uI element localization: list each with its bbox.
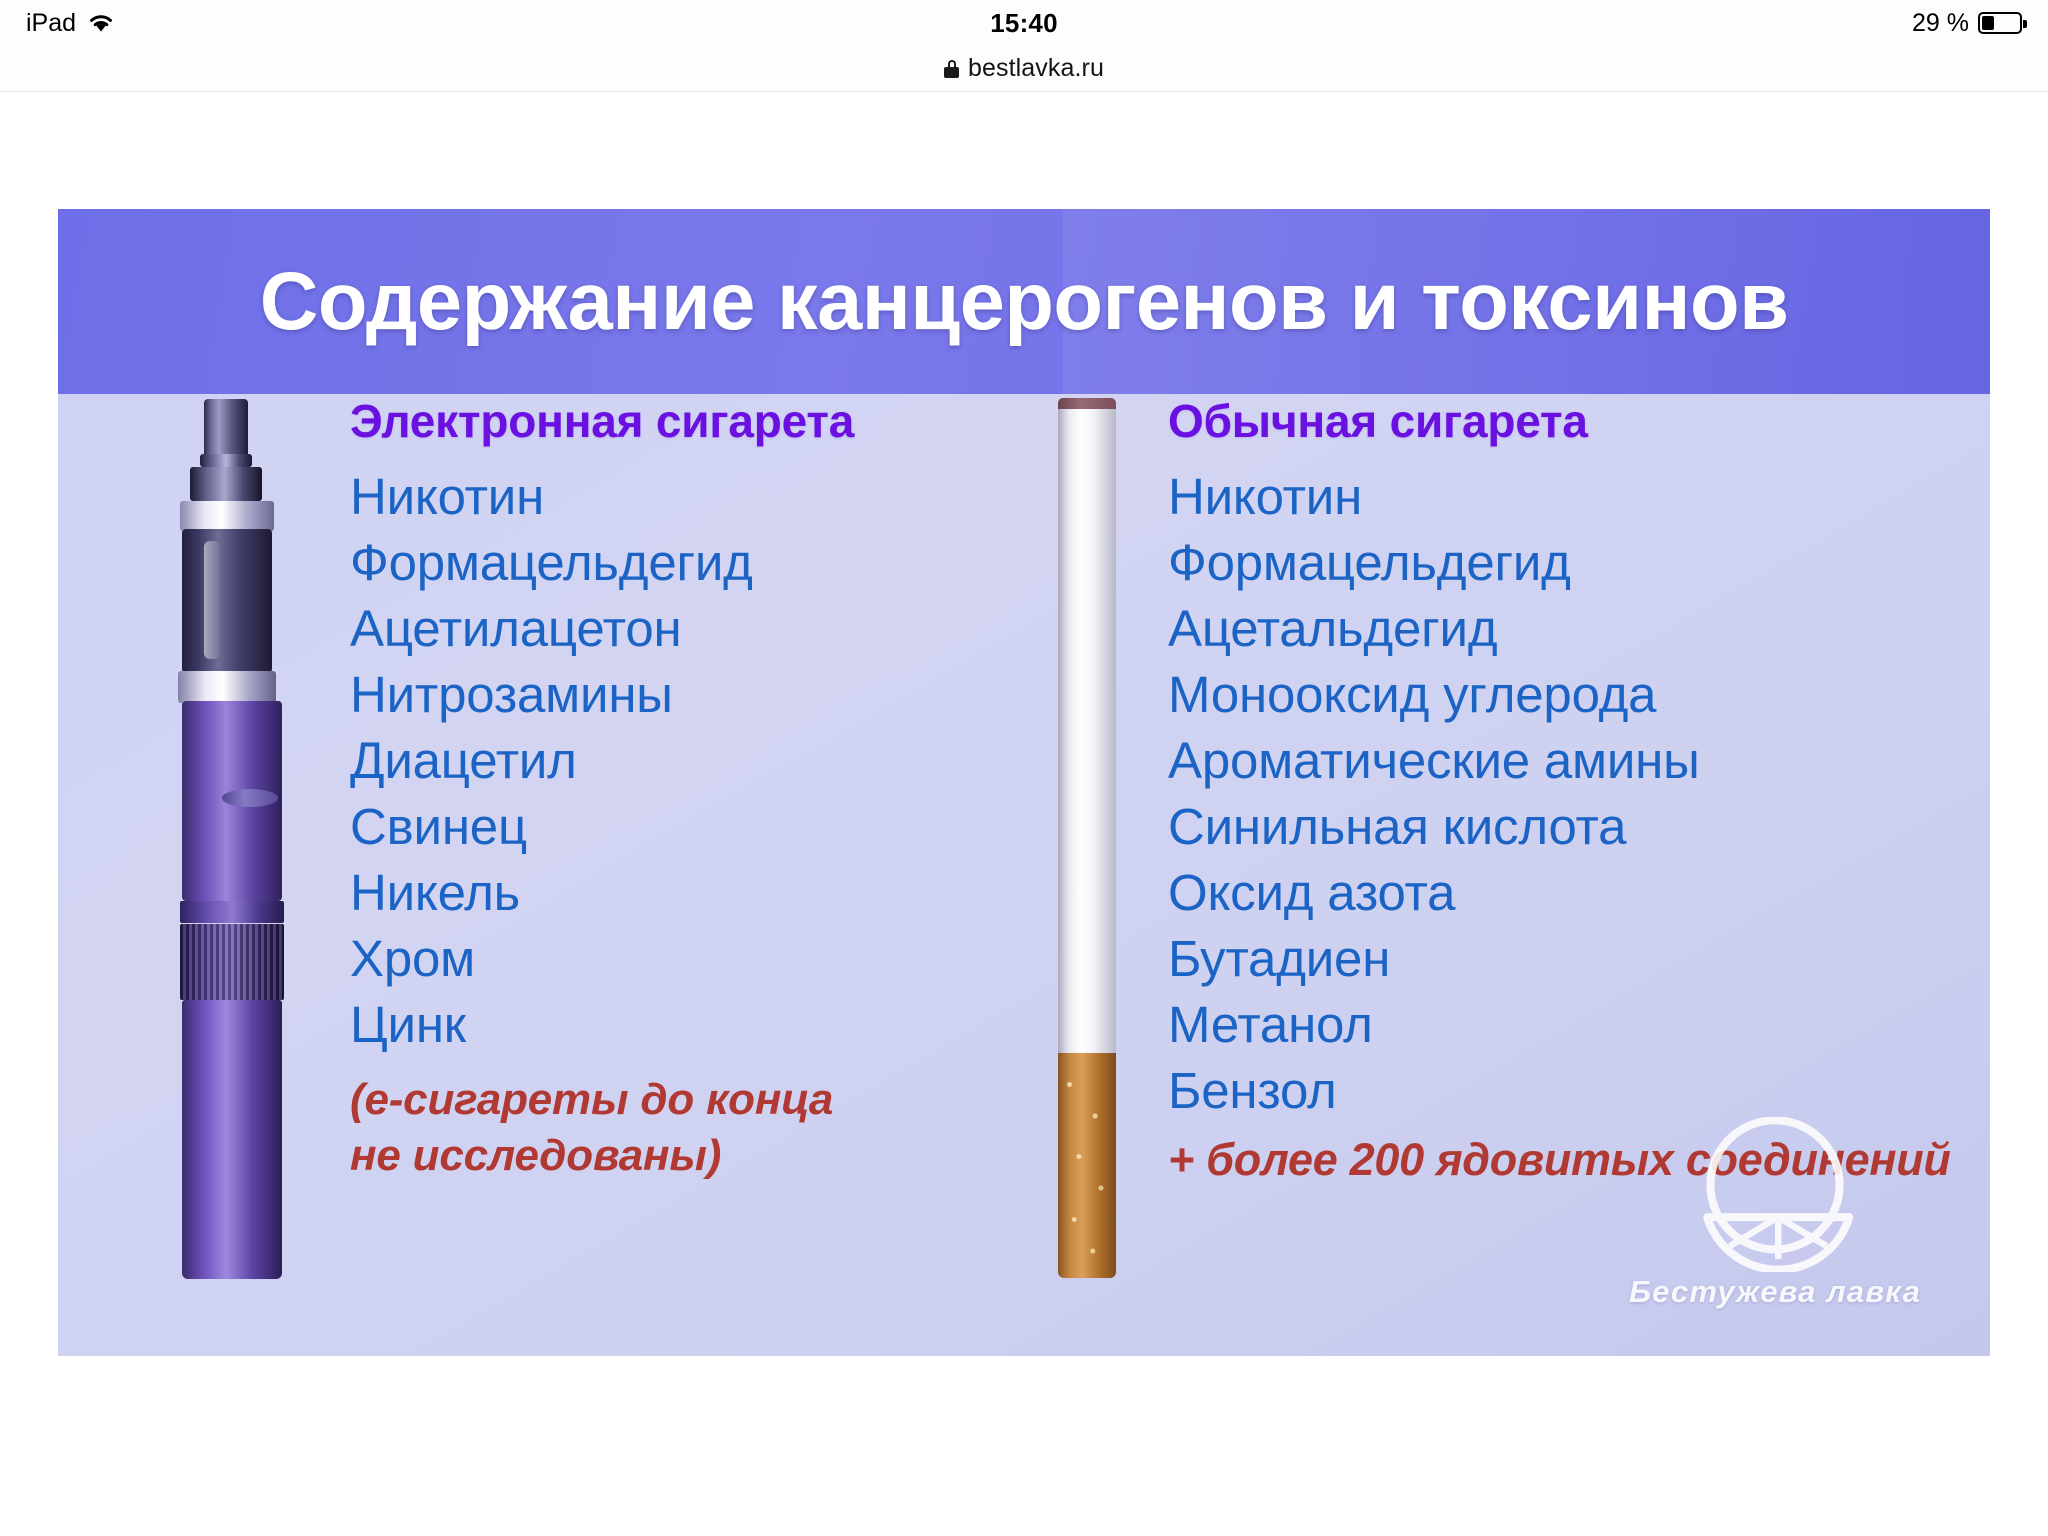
- electronic-cigarette-icon: [166, 399, 298, 1279]
- ecig-knurled-section: [180, 924, 284, 1000]
- list-item: Метанол: [1168, 992, 1958, 1058]
- list-item: Бутадиен: [1168, 926, 1958, 992]
- note-regular-cigarette: + более 200 ядовитых соединений: [1168, 1132, 1958, 1188]
- ecig-tip-ring: [200, 454, 252, 467]
- web-page-content: Содержание канцерогенов и токсинов: [0, 93, 2048, 1536]
- list-item: Ацетальдегид: [1168, 596, 1958, 662]
- ecig-tank: [182, 529, 272, 673]
- ecig-chrome-ring-top: [180, 501, 274, 531]
- infographic-card: Содержание канцерогенов и токсинов: [58, 209, 1990, 1356]
- list-item: Формацельдегид: [350, 530, 970, 596]
- cigarette-filter: [1058, 1053, 1116, 1278]
- wifi-icon: [87, 12, 115, 34]
- list-item: Хром: [350, 926, 970, 992]
- list-item: Никель: [350, 860, 970, 926]
- cigarette-paper: [1058, 398, 1116, 1053]
- chemical-list-electronic-cigarette: Никотин Формацельдегид Ацетилацетон Нитр…: [350, 464, 970, 1058]
- ecig-lower-body: [182, 1000, 282, 1279]
- cigarette-icon: [1058, 398, 1116, 1278]
- ios-status-bar: iPad 15:40 29 %: [0, 0, 2048, 46]
- url-text[interactable]: bestlavka.ru: [968, 54, 1104, 83]
- list-item: Ацетилацетон: [350, 596, 970, 662]
- device-label: iPad: [26, 9, 76, 38]
- list-item: Ароматические амины: [1168, 728, 1958, 794]
- list-item: Нитрозамины: [350, 662, 970, 728]
- ecig-fire-button: [222, 789, 278, 807]
- list-item: Свинец: [350, 794, 970, 860]
- status-bar-right: 29 %: [1622, 9, 2022, 38]
- status-bar-clock: 15:40: [426, 8, 1622, 39]
- battery-percent-label: 29 %: [1912, 9, 1969, 38]
- list-item: Бензол: [1168, 1058, 1958, 1124]
- ecig-band-upper: [180, 901, 284, 923]
- note-line: не исследованы): [350, 1128, 970, 1184]
- list-item: Цинк: [350, 992, 970, 1058]
- list-item: Никотин: [1168, 464, 1958, 530]
- ecig-chrome-ring-mid: [178, 671, 276, 703]
- lock-body: [944, 67, 959, 78]
- browser-url-bar[interactable]: bestlavka.ru: [0, 46, 2048, 92]
- battery-fill: [1982, 16, 1994, 30]
- list-item: Никотин: [350, 464, 970, 530]
- infographic-banner: Содержание канцерогенов и токсинов: [58, 209, 1990, 394]
- ecig-barrel: [182, 701, 282, 901]
- battery-icon: [1978, 12, 2022, 34]
- column-electronic-cigarette: Электронная сигарета Никотин Формацельде…: [350, 394, 970, 1184]
- list-item: Оксид азота: [1168, 860, 1958, 926]
- list-item: Диацетил: [350, 728, 970, 794]
- column-regular-cigarette: Обычная сигарета Никотин Формацельдегид …: [1168, 394, 1958, 1188]
- note-line: (е-сигареты до конца: [350, 1072, 970, 1128]
- list-item: Синильная кислота: [1168, 794, 1958, 860]
- infographic-title: Содержание канцерогенов и токсинов: [260, 255, 1789, 349]
- lock-icon: [944, 60, 959, 78]
- ecig-collar: [190, 467, 262, 501]
- status-bar-left: iPad: [26, 9, 426, 38]
- list-item: Монооксид углерода: [1168, 662, 1958, 728]
- note-electronic-cigarette: (е-сигареты до конца не исследованы): [350, 1072, 970, 1184]
- watermark-text: Бестужева лавка: [1610, 1274, 1940, 1310]
- column-heading-electronic-cigarette: Электронная сигарета: [350, 394, 970, 448]
- infographic-body: Электронная сигарета Никотин Формацельде…: [58, 394, 1990, 1356]
- column-heading-regular-cigarette: Обычная сигарета: [1168, 394, 1958, 448]
- chemical-list-regular-cigarette: Никотин Формацельдегид Ацетальдегид Моно…: [1168, 464, 1958, 1124]
- list-item: Формацельдегид: [1168, 530, 1958, 596]
